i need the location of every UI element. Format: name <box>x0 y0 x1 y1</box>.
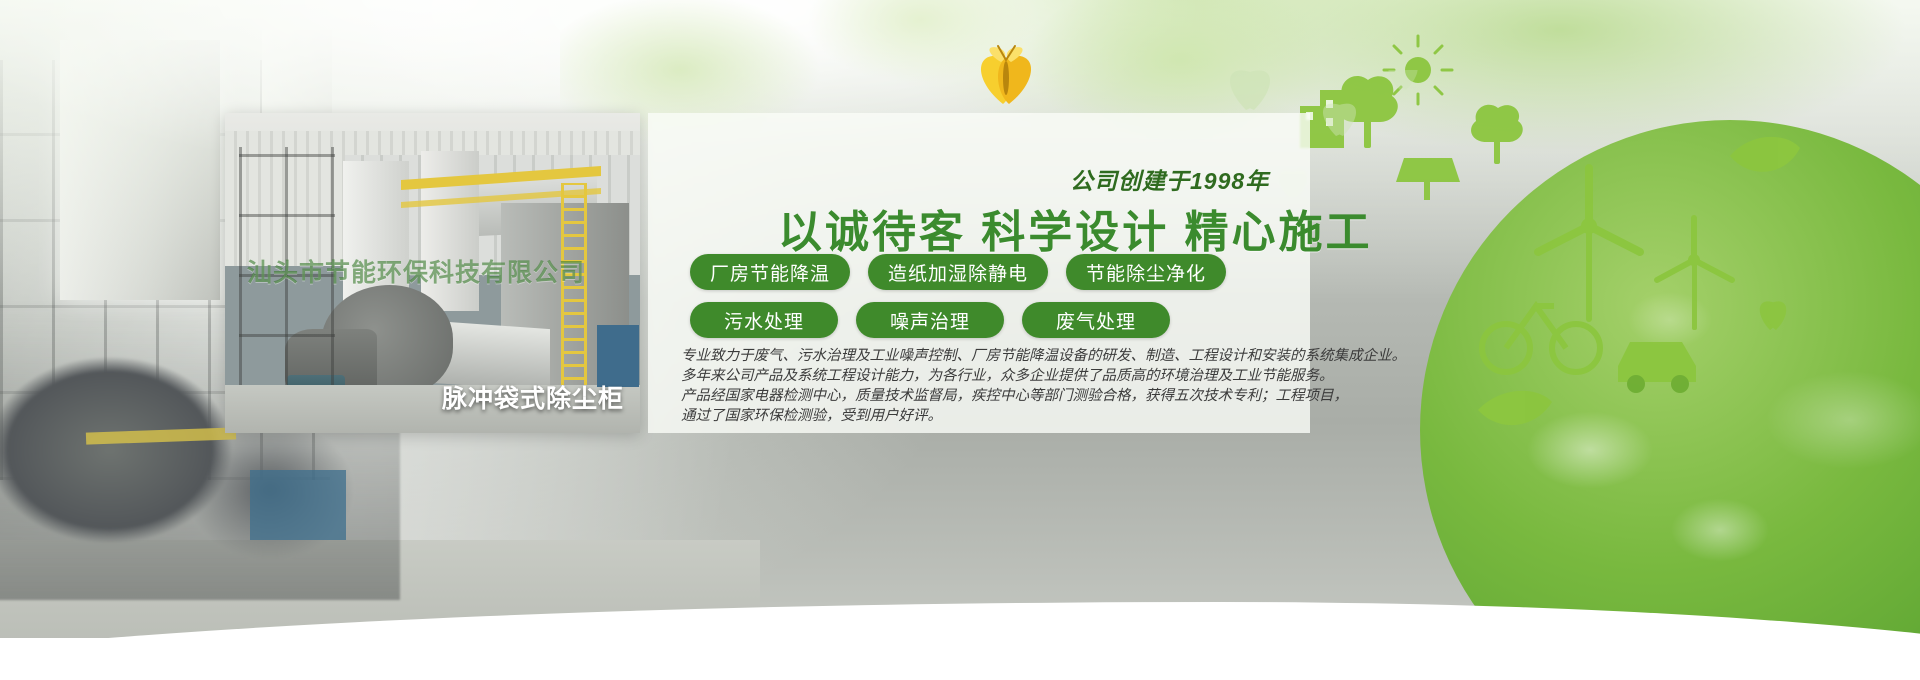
bottom-white-strip <box>0 638 1920 680</box>
service-pill-waste-gas[interactable]: 废气处理 <box>1022 302 1170 338</box>
photo-watermark: 汕头市节能环保科技有限公司 <box>247 253 627 289</box>
butterfly-icon <box>1388 70 1417 90</box>
butterfly-icon <box>1323 104 1356 136</box>
description-line-1: 专业致力于废气、污水治理及工业噪声控制、厂房节能降温设备的研发、制造、工程设计和… <box>681 346 1311 366</box>
photo-caption: 脉冲袋式除尘柜 <box>442 379 624 415</box>
established-year-text: 公司创建于1998年 <box>1070 162 1269 196</box>
service-pill-factory-cooling[interactable]: 厂房节能降温 <box>690 254 850 290</box>
eco-globe-circle <box>1420 120 1920 680</box>
page-title: 以诚待客 科学设计 精心施工 <box>778 196 1372 260</box>
description-line-3: 产品经国家电器检测中心，质量技术监督局，疾控中心等部门测验合格，获得五次技术专利… <box>681 386 1311 406</box>
service-pill-sewage-treatment[interactable]: 污水处理 <box>690 302 838 338</box>
service-pill-list: 厂房节能降温 造纸加湿除静电 节能除尘净化 污水处理 噪声治理 废气处理 <box>690 254 1300 350</box>
background-blue-panel <box>250 470 346 540</box>
product-photo-card[interactable]: 汕头市节能环保科技有限公司 脉冲袋式除尘柜 <box>225 113 640 433</box>
service-pill-noise-control[interactable]: 噪声治理 <box>856 302 1004 338</box>
service-pill-row-1: 厂房节能降温 造纸加湿除静电 节能除尘净化 <box>690 254 1300 290</box>
butterfly-icon <box>1230 70 1270 110</box>
company-description: 专业致力于废气、污水治理及工业噪声控制、厂房节能降温设备的研发、制造、工程设计和… <box>681 346 1311 426</box>
service-pill-dust-purification[interactable]: 节能除尘净化 <box>1066 254 1226 290</box>
description-line-2: 多年来公司产品及系统工程设计能力，为各行业，众多企业提供了品质高的环境治理及工业… <box>681 366 1311 386</box>
service-pill-paper-humidify[interactable]: 造纸加湿除静电 <box>868 254 1048 290</box>
butterfly-icon <box>965 42 1045 112</box>
description-line-4: 通过了国家环保检测验，受到用户好评。 <box>681 406 1311 426</box>
promo-banner: 汕头市节能环保科技有限公司 脉冲袋式除尘柜 公司创建于1998年 以诚待客 科学… <box>0 0 1920 680</box>
service-pill-row-2: 污水处理 噪声治理 废气处理 <box>690 302 1300 338</box>
